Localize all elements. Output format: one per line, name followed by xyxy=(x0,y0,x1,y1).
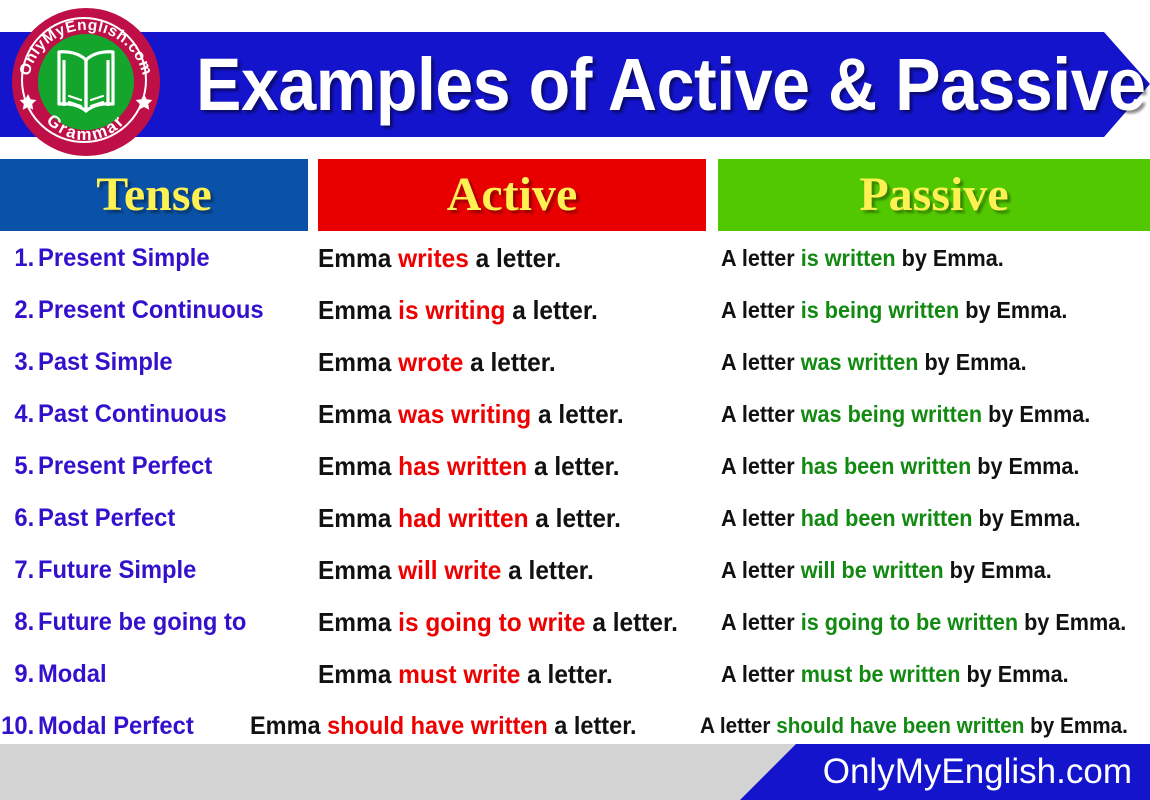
passive-verb-phrase: is written xyxy=(801,245,896,271)
passive-suffix: by Emma. xyxy=(971,453,1079,479)
table-row: 1.Present SimpleEmma writes a letter.A l… xyxy=(0,232,1150,284)
site-logo[interactable]: OnlyMyEnglish.com Grammar xyxy=(12,8,160,156)
passive-verb-phrase: is going to be written xyxy=(801,609,1018,635)
cell-tense: 9.Modal xyxy=(0,648,291,700)
row-number: 5. xyxy=(0,440,38,492)
voice-examples-table: 1.Present SimpleEmma writes a letter.A l… xyxy=(0,232,1150,727)
tense-label: Present Continuous xyxy=(38,296,264,324)
active-suffix: a letter. xyxy=(586,607,678,637)
row-number: 7. xyxy=(0,544,38,596)
active-verb-phrase: will write xyxy=(398,555,501,585)
passive-prefix: A letter xyxy=(721,297,801,323)
active-suffix: a letter. xyxy=(463,347,555,377)
passive-verb-phrase: should have been written xyxy=(776,713,1024,738)
passive-verb-phrase: will be written xyxy=(801,557,944,583)
passive-prefix: A letter xyxy=(721,661,801,687)
cell-tense: 2.Present Continuous xyxy=(0,284,291,336)
cell-passive: A letter was being written by Emma. xyxy=(721,388,1124,440)
passive-prefix: A letter xyxy=(721,349,801,375)
passive-verb-phrase: is being written xyxy=(801,297,960,323)
tense-label: Future be going to xyxy=(38,608,246,636)
open-book-icon xyxy=(38,34,134,130)
table-row: 2.Present ContinuousEmma is writing a le… xyxy=(0,284,1150,336)
tense-label: Modal Perfect xyxy=(38,712,194,740)
cell-passive: A letter must be written by Emma. xyxy=(721,648,1124,700)
passive-suffix: by Emma. xyxy=(959,297,1067,323)
active-prefix: Emma xyxy=(250,712,327,740)
row-number: 3. xyxy=(0,336,38,388)
cell-active: Emma is writing a letter. xyxy=(318,284,685,336)
active-prefix: Emma xyxy=(318,607,398,637)
table-row: 4.Past ContinuousEmma was writing a lett… xyxy=(0,388,1150,440)
row-number: 1. xyxy=(0,232,38,284)
active-prefix: Emma xyxy=(318,555,398,585)
active-prefix: Emma xyxy=(318,243,398,273)
active-prefix: Emma xyxy=(318,659,398,689)
column-header-passive: Passive xyxy=(718,159,1150,231)
row-number: 6. xyxy=(0,492,38,544)
column-header-active: Active xyxy=(318,159,706,231)
active-verb-phrase: must write xyxy=(398,659,520,689)
passive-prefix: A letter xyxy=(721,453,801,479)
logo-star-left xyxy=(20,94,37,110)
active-verb-phrase: should have written xyxy=(327,712,548,740)
row-number: 9. xyxy=(0,648,38,700)
page-title: Examples of Active & Passive Voice xyxy=(196,32,1052,137)
passive-prefix: A letter xyxy=(700,713,776,738)
table-row: 8.Future be going toEmma is going to wri… xyxy=(0,596,1150,648)
tense-label: Past Perfect xyxy=(38,504,175,532)
active-verb-phrase: is writing xyxy=(398,295,505,325)
active-verb-phrase: had written xyxy=(398,503,528,533)
cell-active: Emma had written a letter. xyxy=(318,492,685,544)
cell-tense: 6.Past Perfect xyxy=(0,492,291,544)
passive-suffix: by Emma. xyxy=(982,401,1090,427)
active-verb-phrase: is going to write xyxy=(398,607,585,637)
tense-label: Present Simple xyxy=(38,244,210,272)
passive-verb-phrase: was being written xyxy=(801,401,982,427)
cell-passive: A letter had been written by Emma. xyxy=(721,492,1124,544)
tense-label: Past Simple xyxy=(38,348,173,376)
cell-tense: 7.Future Simple xyxy=(0,544,291,596)
page-footer: OnlyMyEnglish.com xyxy=(0,744,1150,800)
passive-suffix: by Emma. xyxy=(918,349,1026,375)
cell-tense: 1.Present Simple xyxy=(0,232,291,284)
table-row: 7.Future SimpleEmma will write a letter.… xyxy=(0,544,1150,596)
passive-suffix: by Emma. xyxy=(1024,713,1127,738)
active-suffix: a letter. xyxy=(548,712,637,740)
cell-passive: A letter is being written by Emma. xyxy=(721,284,1124,336)
active-suffix: a letter. xyxy=(505,295,597,325)
cell-active: Emma is going to write a letter. xyxy=(318,596,685,648)
passive-suffix: by Emma. xyxy=(960,661,1068,687)
active-suffix: a letter. xyxy=(501,555,593,585)
cell-tense: 8.Future be going to xyxy=(0,596,291,648)
cell-passive: A letter has been written by Emma. xyxy=(721,440,1124,492)
passive-verb-phrase: must be written xyxy=(801,661,961,687)
cell-active: Emma was writing a letter. xyxy=(318,388,685,440)
passive-prefix: A letter xyxy=(721,245,801,271)
table-column-headers: Tense Active Passive xyxy=(0,159,1150,231)
table-row: 5.Present PerfectEmma has written a lett… xyxy=(0,440,1150,492)
cell-tense: 3.Past Simple xyxy=(0,336,291,388)
active-prefix: Emma xyxy=(318,347,398,377)
active-prefix: Emma xyxy=(318,503,398,533)
column-header-tense: Tense xyxy=(0,159,308,231)
active-prefix: Emma xyxy=(318,295,398,325)
cell-tense: 5.Present Perfect xyxy=(0,440,291,492)
tense-label: Past Continuous xyxy=(38,400,227,428)
footer-site-name: OnlyMyEnglish.com xyxy=(823,744,1132,800)
row-number: 4. xyxy=(0,388,38,440)
table-row: 9.ModalEmma must write a letter.A letter… xyxy=(0,648,1150,700)
cell-passive: A letter is going to be written by Emma. xyxy=(721,596,1124,648)
active-verb-phrase: wrote xyxy=(398,347,463,377)
cell-passive: A letter will be written by Emma. xyxy=(721,544,1124,596)
table-row: 6.Past PerfectEmma had written a letter.… xyxy=(0,492,1150,544)
cell-passive: A letter is written by Emma. xyxy=(721,232,1124,284)
passive-prefix: A letter xyxy=(721,505,801,531)
passive-verb-phrase: had been written xyxy=(801,505,973,531)
row-number: 2. xyxy=(0,284,38,336)
cell-active: Emma will write a letter. xyxy=(318,544,685,596)
active-verb-phrase: was writing xyxy=(398,399,531,429)
table-row: 3.Past SimpleEmma wrote a letter.A lette… xyxy=(0,336,1150,388)
passive-suffix: by Emma. xyxy=(944,557,1052,583)
passive-prefix: A letter xyxy=(721,401,801,427)
cell-active: Emma wrote a letter. xyxy=(318,336,685,388)
active-prefix: Emma xyxy=(318,399,398,429)
cell-active: Emma writes a letter. xyxy=(318,232,685,284)
tense-label: Modal xyxy=(38,660,107,688)
active-suffix: a letter. xyxy=(520,659,612,689)
cell-active: Emma must write a letter. xyxy=(318,648,685,700)
active-suffix: a letter. xyxy=(469,243,561,273)
tense-label: Present Perfect xyxy=(38,452,212,480)
row-number: 8. xyxy=(0,596,38,648)
passive-verb-phrase: has been written xyxy=(801,453,972,479)
logo-star-right xyxy=(136,94,153,110)
active-suffix: a letter. xyxy=(529,503,621,533)
active-suffix: a letter. xyxy=(527,451,619,481)
passive-suffix: by Emma. xyxy=(972,505,1080,531)
active-verb-phrase: has written xyxy=(398,451,527,481)
passive-prefix: A letter xyxy=(721,609,801,635)
passive-prefix: A letter xyxy=(721,557,801,583)
cell-active: Emma has written a letter. xyxy=(318,440,685,492)
passive-verb-phrase: was written xyxy=(801,349,919,375)
active-verb-phrase: writes xyxy=(398,243,469,273)
passive-suffix: by Emma. xyxy=(1018,609,1126,635)
passive-suffix: by Emma. xyxy=(896,245,1004,271)
cell-tense: 4.Past Continuous xyxy=(0,388,291,440)
active-prefix: Emma xyxy=(318,451,398,481)
cell-passive: A letter was written by Emma. xyxy=(721,336,1124,388)
tense-label: Future Simple xyxy=(38,556,196,584)
active-suffix: a letter. xyxy=(531,399,623,429)
page-header: Examples of Active & Passive Voice OnlyM… xyxy=(0,0,1150,150)
